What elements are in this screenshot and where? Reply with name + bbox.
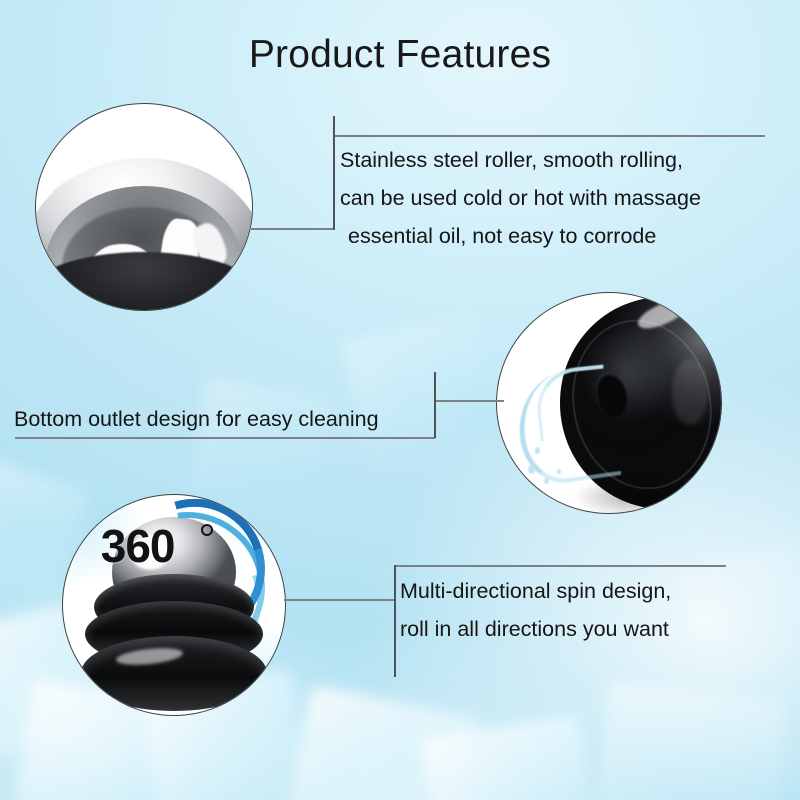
feature-image-bottom-outlet <box>496 292 722 514</box>
connector-line-feature-2 <box>436 400 504 402</box>
page-title: Product Features <box>0 33 800 77</box>
water-droplet <box>528 465 535 474</box>
feature-line: roll in all directions you want <box>400 610 740 648</box>
feature-image-stainless-steel-roller <box>35 103 253 311</box>
connector-line-feature-3 <box>284 599 396 601</box>
ball-specular-highlight <box>672 359 708 425</box>
feature-line: essential oil, not easy to corrode <box>340 217 780 255</box>
feature-line: can be used cold or hot with massage <box>340 179 780 217</box>
feature-text-stainless-steel-roller: Stainless steel roller, smooth rolling, … <box>340 141 780 255</box>
feature-text-360-spin: Multi-directional spin design, roll in a… <box>400 572 740 648</box>
feature-text-bottom-outlet: Bottom outlet design for easy cleaning <box>14 400 434 438</box>
bracket-vertical-feature-2 <box>434 372 436 438</box>
product-features-poster: Product Features Stainless steel roller,… <box>0 0 800 800</box>
water-droplet <box>544 478 549 484</box>
feature-image-360-spin: 360 <box>62 494 286 716</box>
bracket-vertical-feature-3 <box>394 565 396 677</box>
feature-line: Stainless steel roller, smooth rolling, <box>340 141 780 179</box>
bracket-vertical-feature-1 <box>333 116 335 230</box>
ball-ring <box>81 636 267 711</box>
degree-badge-number: 360 <box>101 519 175 573</box>
degree-symbol-icon <box>201 524 213 536</box>
feature-line: Multi-directional spin design, <box>400 572 740 610</box>
bracket-top-rule-feature-3 <box>396 565 726 567</box>
feature-line: Bottom outlet design for easy cleaning <box>14 400 434 438</box>
bracket-top-rule-feature-1 <box>335 135 765 137</box>
water-stream <box>534 364 611 441</box>
connector-line-feature-1 <box>251 228 335 230</box>
